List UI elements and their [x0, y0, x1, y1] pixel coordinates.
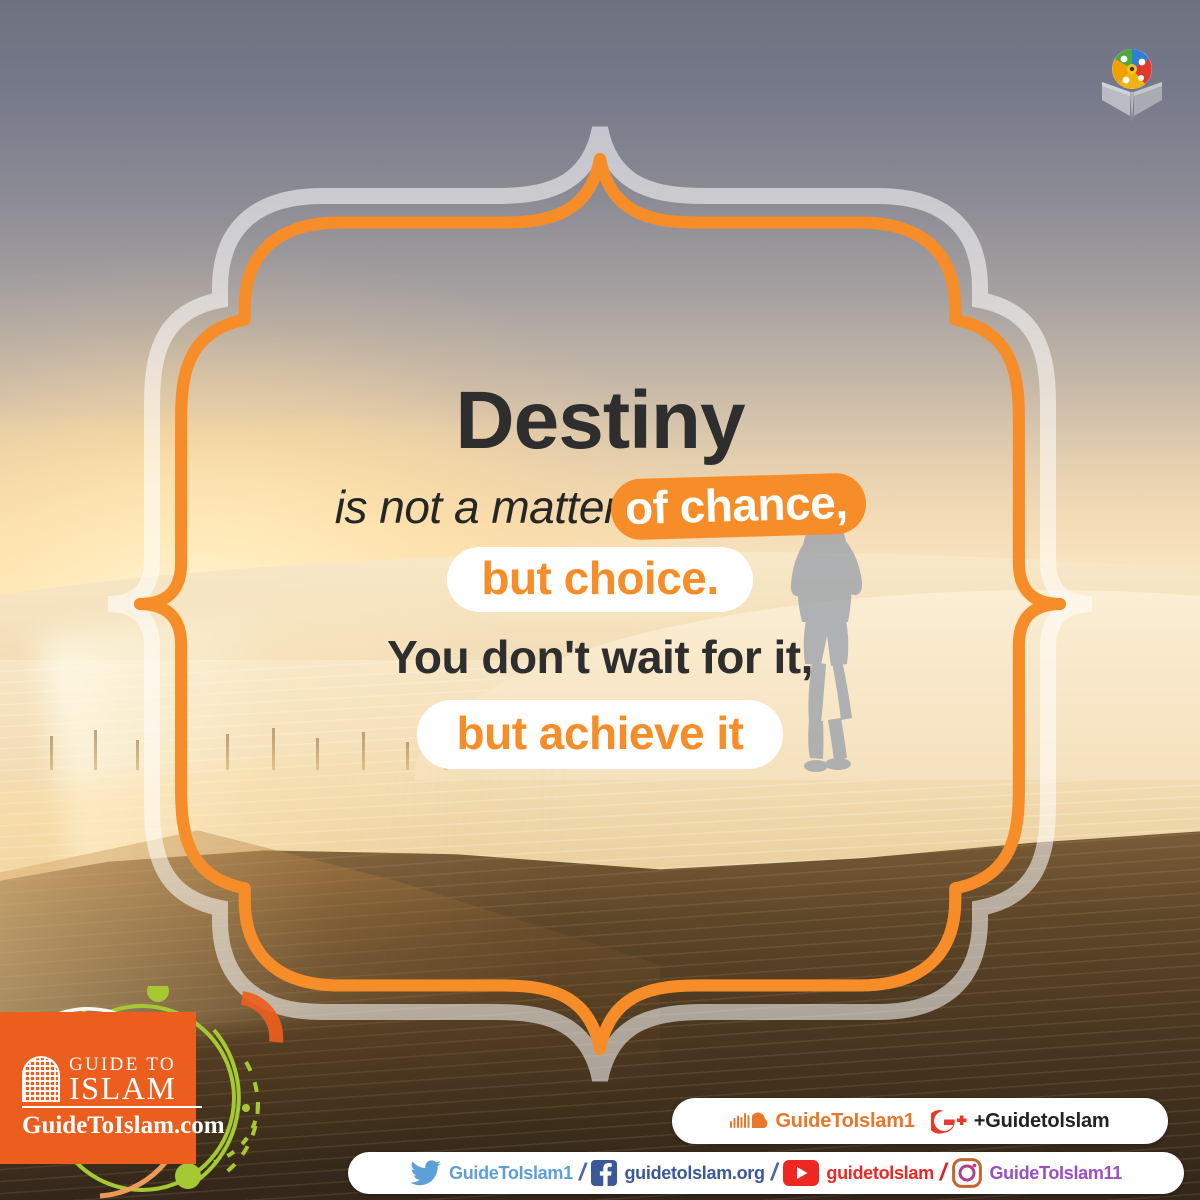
google-plus-icon	[931, 1108, 967, 1134]
quote-line-2-plain: is not a matter	[335, 484, 619, 530]
social-link-facebook[interactable]: guidetolslam.org	[591, 1160, 764, 1186]
logo-divider	[22, 1106, 202, 1108]
social-link-youtube[interactable]: guidetolslam	[783, 1160, 933, 1186]
social-bar-top: GuideToIslam1 +Guidetolslam	[672, 1098, 1168, 1144]
soundcloud-icon	[730, 1110, 768, 1132]
youtube-icon	[783, 1160, 819, 1186]
social-separator-1: /	[573, 1159, 592, 1187]
social-separator-3: /	[934, 1159, 953, 1187]
quote-highlight-achieve: but achieve it	[417, 700, 784, 769]
social-bar-bottom: GuideToIslam1 / guidetolslam.org / guide…	[348, 1152, 1184, 1194]
quote-highlight-choice: but choice.	[447, 547, 752, 612]
social-label-googleplus: +Guidetolslam	[974, 1110, 1110, 1133]
social-label-facebook: guidetolslam.org	[624, 1163, 764, 1184]
social-label-instagram: GuideToIslam11	[989, 1163, 1122, 1184]
social-label-youtube: guidetolslam	[826, 1163, 933, 1184]
quote-line-3: but choice.	[150, 547, 1050, 612]
social-label-soundcloud: GuideToIslam1	[775, 1110, 914, 1133]
social-link-twitter[interactable]: GuideToIslam1	[410, 1160, 573, 1186]
quote-block: Destiny is not a matter of chance, but c…	[150, 380, 1050, 769]
quote-line-2: is not a matter of chance,	[150, 476, 1050, 537]
social-link-instagram[interactable]: GuideToIslam11	[952, 1158, 1122, 1188]
quote-line-5: but achieve it	[150, 700, 1050, 769]
brand-logo-line2: ISLAM	[69, 1073, 177, 1103]
social-link-googleplus[interactable]: +Guidetolslam	[931, 1108, 1110, 1134]
brand-logo: GUIDE TO ISLAM GuideToIslam.com	[22, 1056, 202, 1140]
social-label-twitter: GuideToIslam1	[449, 1163, 573, 1184]
social-separator-2: /	[765, 1159, 784, 1187]
quote-line-4: You don't wait for it,	[150, 634, 1050, 680]
open-book-globe-icon	[1096, 42, 1168, 122]
facebook-icon	[591, 1160, 617, 1186]
quote-line-1: Destiny	[150, 380, 1050, 462]
brand-website: GuideToIslam.com	[22, 1112, 202, 1140]
social-link-soundcloud[interactable]: GuideToIslam1	[730, 1110, 914, 1133]
quote-highlight-chance: of chance,	[610, 472, 866, 540]
instagram-icon	[952, 1158, 982, 1188]
mosque-arch-icon	[22, 1056, 60, 1102]
twitter-icon	[410, 1160, 442, 1186]
